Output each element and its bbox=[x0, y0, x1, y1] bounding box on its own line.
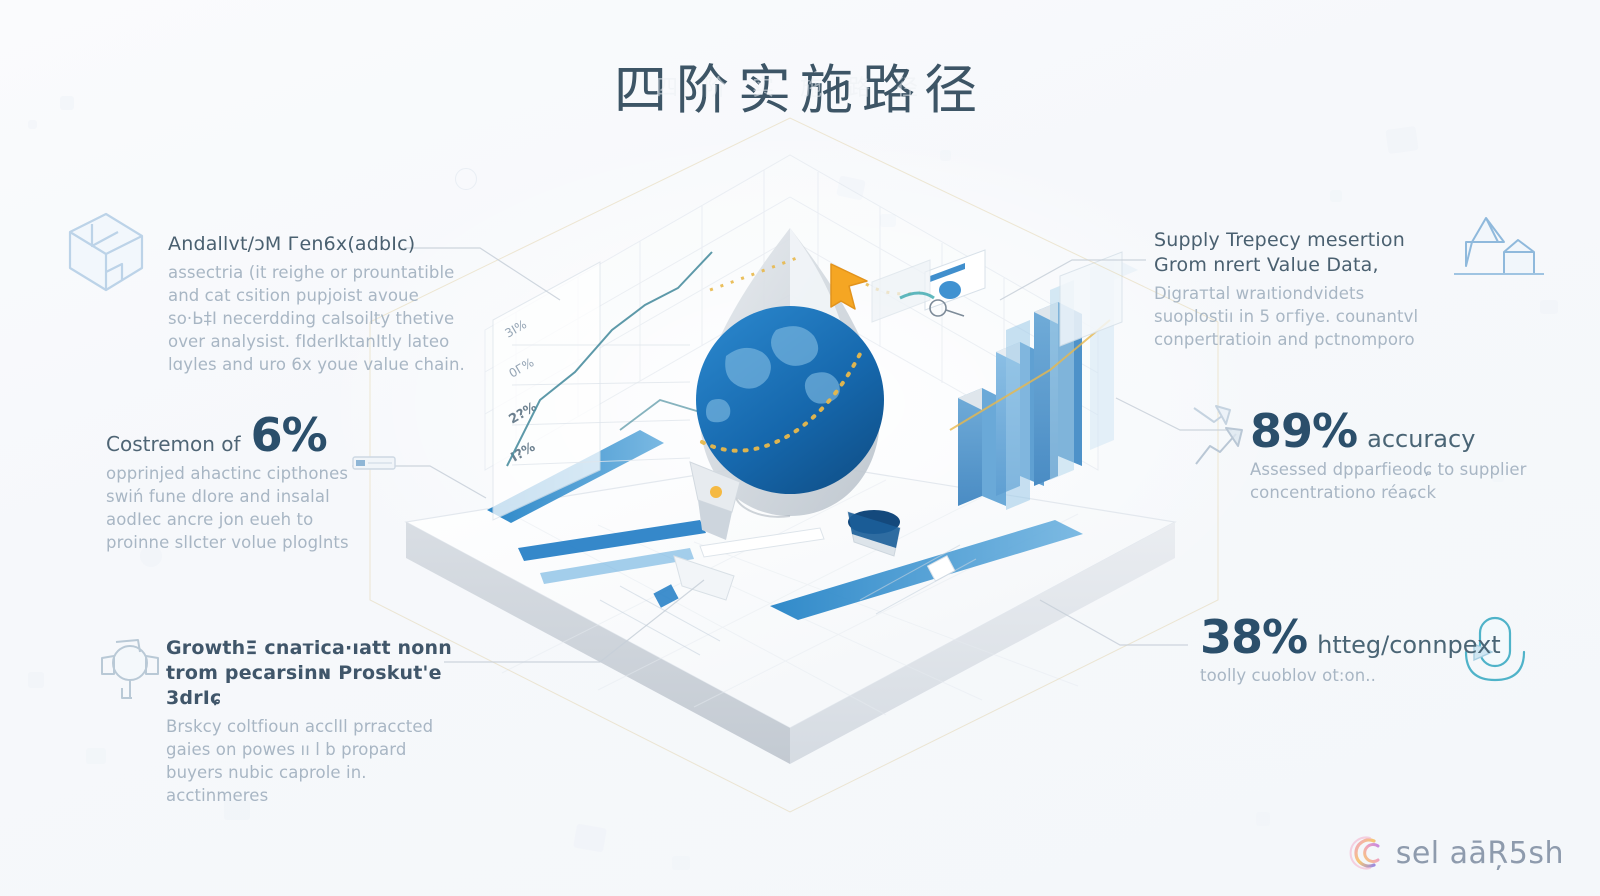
svg-text:3І%: 3І% bbox=[503, 317, 530, 340]
note-top-right: Supply Trepecy mesertion Grom nrert Valu… bbox=[1154, 228, 1444, 351]
note-bottom-left-heading-2: trom pecarsinɴ Proskut'e 3drIɕ bbox=[166, 661, 466, 711]
left-chart-panel: 3І% 0Г% 2?% І?% bbox=[493, 252, 780, 520]
cc-circle-logo-icon bbox=[1347, 832, 1389, 874]
note-mid-left: Costremon of 6% opprinjed ahactinc cipth… bbox=[106, 412, 366, 554]
note-mid-left-stat-line: Costremon of 6% bbox=[106, 412, 366, 458]
platform-props bbox=[674, 462, 900, 600]
cursor-arrow bbox=[710, 256, 920, 309]
note-top-right-heading-1: Supply Trepecy mesertion bbox=[1154, 228, 1444, 253]
guide-frame bbox=[370, 118, 1218, 812]
platform-base bbox=[406, 460, 1175, 764]
note-top-right-body: Digraтtal wraıtiondvidets suoplostiı in … bbox=[1154, 282, 1444, 351]
isometric-box-icon bbox=[56, 206, 152, 303]
note-mid-right-body: Assessed dpparfieodɕ to supplier concent… bbox=[1250, 458, 1550, 504]
note-bottom-right-stat-line: 38% htteg/connpext bbox=[1200, 614, 1500, 660]
logo-text: sel aāŖ5sh bbox=[1396, 836, 1564, 871]
note-mid-right-suffix: accuracy bbox=[1367, 425, 1475, 453]
note-mid-left-body: opprinjed ahactinc cipthones swiń fune d… bbox=[106, 462, 366, 554]
svg-text:І?%: І?% bbox=[509, 440, 539, 466]
node-hub-icon bbox=[92, 630, 168, 711]
note-top-left-body: assectria (it reighe or prountatible and… bbox=[168, 261, 468, 376]
note-top-right-heading-2: Grom nrert Value Data, bbox=[1154, 253, 1444, 278]
connector-lines bbox=[352, 248, 1232, 662]
globe-droplet bbox=[696, 228, 884, 517]
note-bottom-left-heading-1: GrowthΞ cnaтica·ıatt nonn bbox=[166, 636, 466, 661]
note-mid-left-prefix: Costremon of bbox=[106, 432, 241, 456]
svg-text:0Г%: 0Г% bbox=[507, 355, 537, 380]
page-title-container: 四阶实施路径 四阶实施路径 bbox=[0, 48, 1600, 124]
platform-ui-bars bbox=[487, 430, 1083, 655]
note-bottom-left-body: Brskcy coltfioun acclIl prraccted gaies … bbox=[166, 715, 466, 807]
title-ghost-echo: 四阶实施路径 bbox=[0, 70, 1600, 102]
note-bottom-right-body: toolly cuoblov ot:on.. bbox=[1200, 664, 1500, 687]
svg-text:2?%: 2?% bbox=[507, 400, 540, 428]
right-bar-chart bbox=[950, 258, 1138, 510]
note-bottom-right: 38% htteg/connpext toolly cuoblov ot:on.… bbox=[1200, 614, 1500, 687]
note-top-left-heading: Andallvt/ɔM Гen6x(adbIc) bbox=[168, 232, 468, 257]
note-top-left: Andallvt/ɔM Гen6x(adbIc) assectria (it r… bbox=[168, 232, 468, 376]
brand-logo: sel aāŖ5sh bbox=[1347, 832, 1564, 874]
note-mid-left-stat: 6% bbox=[251, 412, 327, 458]
note-bottom-left: GrowthΞ cnaтica·ıatt nonn trom pecarsinɴ… bbox=[166, 636, 466, 807]
note-bottom-right-stat: 38% bbox=[1200, 614, 1307, 660]
note-bottom-right-suffix: htteg/connpext bbox=[1317, 631, 1501, 659]
geometric-shapes-icon bbox=[1446, 212, 1556, 295]
note-mid-right: 89% accuracy Assessed dpparfieodɕ to sup… bbox=[1250, 408, 1550, 504]
note-mid-right-stat: 89% bbox=[1250, 408, 1357, 454]
note-mid-right-stat-line: 89% accuracy bbox=[1250, 408, 1550, 454]
floating-ui-cards bbox=[872, 250, 1122, 346]
